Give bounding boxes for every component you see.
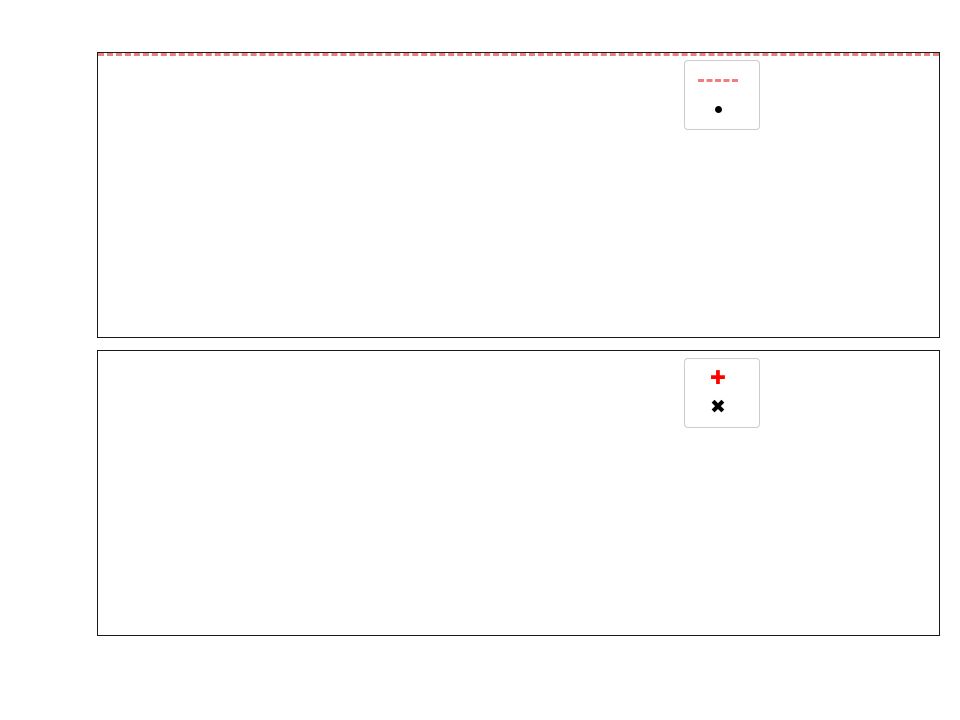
- legend-item-measurements[interactable]: [692, 95, 750, 124]
- figure-canvas: ✚ ✖: [0, 0, 960, 720]
- legend-item-matched-stars[interactable]: ✚: [692, 364, 750, 393]
- top-panel-legend: [684, 60, 760, 130]
- plus-marker-icon: ✚: [692, 369, 744, 388]
- threshold-line: [98, 53, 939, 56]
- ex-marker-icon: ✖: [692, 398, 744, 417]
- bottom-panel-legend: ✚ ✖: [684, 358, 760, 428]
- legend-item-threshold[interactable]: [692, 66, 750, 95]
- bottom-panel-axes: [97, 350, 940, 636]
- legend-item-predicted-stars[interactable]: ✖: [692, 393, 750, 422]
- dot-marker-icon: [692, 106, 744, 113]
- top-panel-axes: [97, 52, 940, 338]
- dashed-line-icon: [692, 79, 744, 82]
